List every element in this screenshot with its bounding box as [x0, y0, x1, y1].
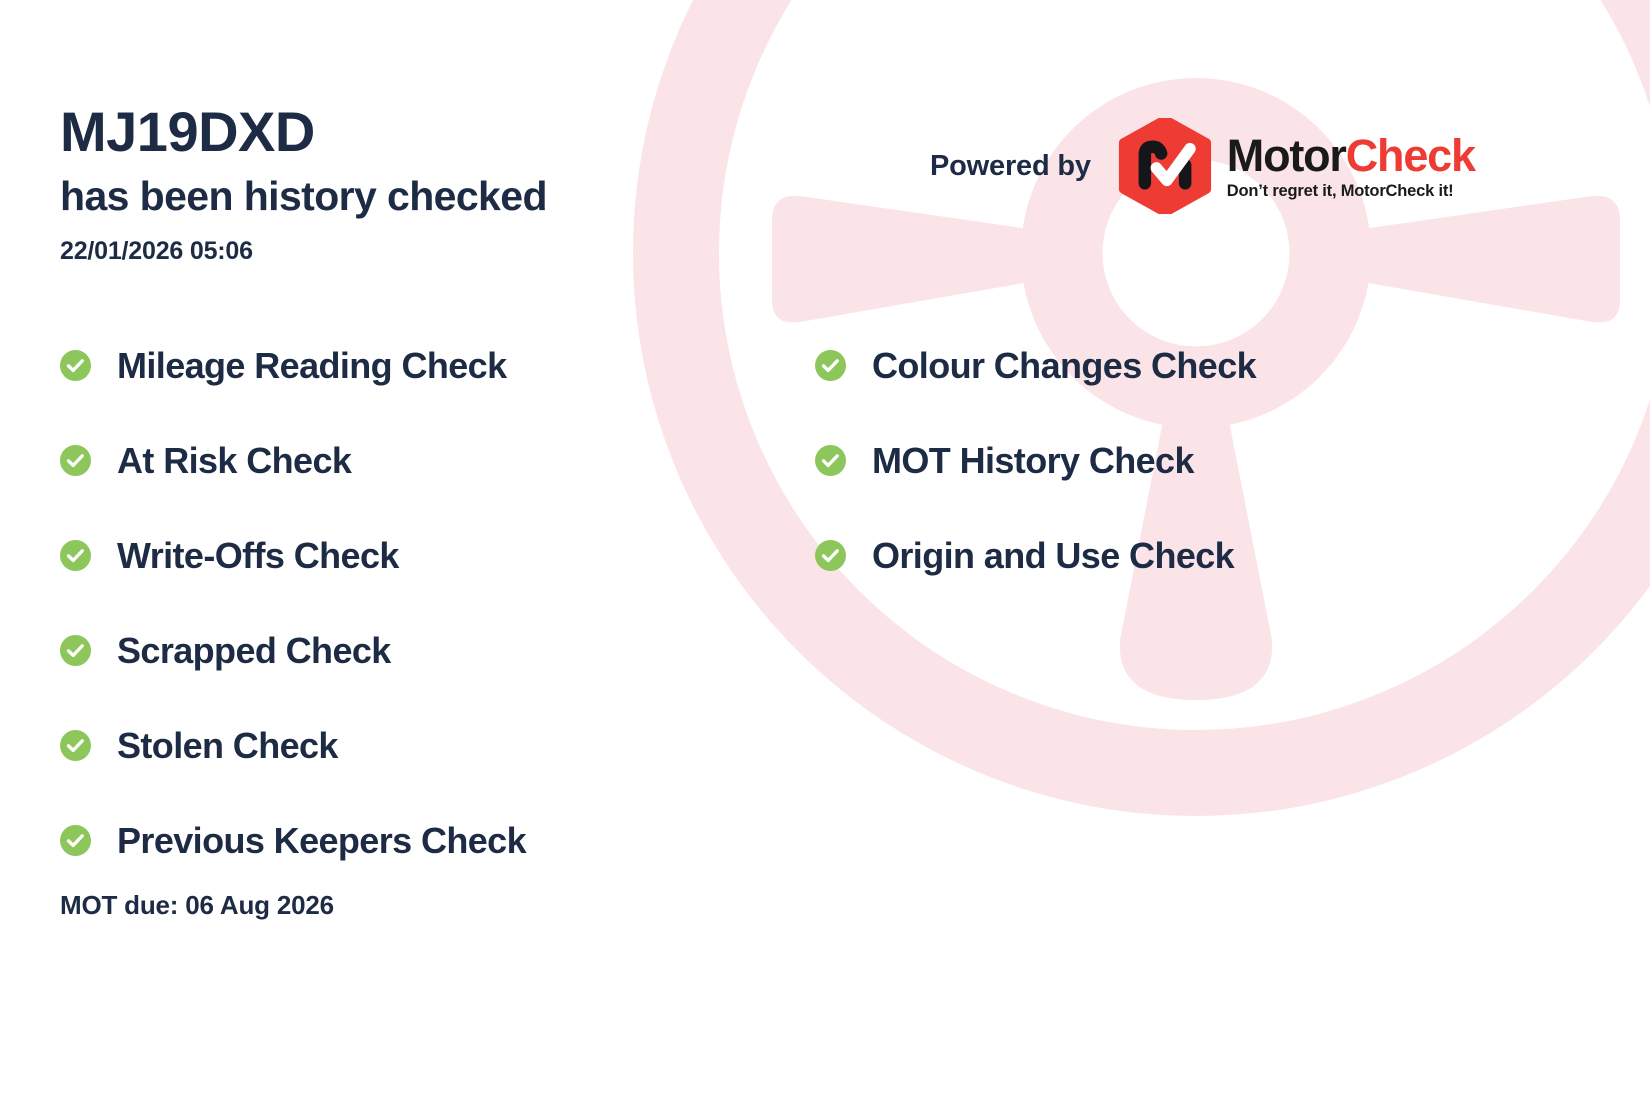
- powered-by-label: Powered by: [930, 150, 1091, 183]
- check-label: Scrapped Check: [117, 633, 391, 669]
- checks-column-right: Colour Changes Check MOT History Check O…: [815, 318, 1555, 603]
- motorcheck-hexagon-logo-icon: [1117, 118, 1213, 214]
- check-label: Mileage Reading Check: [117, 348, 507, 384]
- mot-due-label: MOT due: 06 Aug 2026: [60, 890, 334, 921]
- check-circle-icon: [815, 445, 846, 476]
- brand-name: MotorCheck: [1227, 133, 1475, 178]
- motorcheck-logo[interactable]: MotorCheck Don’t regret it, MotorCheck i…: [1117, 118, 1475, 214]
- check-circle-icon: [60, 540, 91, 571]
- check-item-colour-changes[interactable]: Colour Changes Check: [815, 318, 1555, 413]
- check-label: Write-Offs Check: [117, 538, 399, 574]
- check-label: MOT History Check: [872, 443, 1194, 479]
- brand-name-motor: Motor: [1227, 130, 1346, 181]
- check-item-scrapped[interactable]: Scrapped Check: [60, 603, 790, 698]
- checks-column-left: Mileage Reading Check At Risk Check Writ…: [60, 318, 790, 888]
- check-circle-icon: [60, 445, 91, 476]
- check-label: Origin and Use Check: [872, 538, 1234, 574]
- check-item-mileage-reading[interactable]: Mileage Reading Check: [60, 318, 790, 413]
- check-circle-icon: [815, 350, 846, 381]
- check-circle-icon: [815, 540, 846, 571]
- page-title: has been history checked: [60, 175, 547, 218]
- check-item-stolen[interactable]: Stolen Check: [60, 698, 790, 793]
- check-circle-icon: [60, 825, 91, 856]
- check-label: Previous Keepers Check: [117, 823, 526, 859]
- check-label: At Risk Check: [117, 443, 351, 479]
- check-label: Stolen Check: [117, 728, 338, 764]
- powered-by-block: Powered by MotorCheck Don’t regret it, M…: [930, 118, 1475, 214]
- check-item-previous-keepers[interactable]: Previous Keepers Check: [60, 793, 790, 888]
- brand-name-check: Check: [1346, 130, 1475, 181]
- check-item-mot-history[interactable]: MOT History Check: [815, 413, 1555, 508]
- check-label: Colour Changes Check: [872, 348, 1256, 384]
- brand-tagline: Don’t regret it, MotorCheck it!: [1227, 183, 1475, 200]
- check-item-origin-and-use[interactable]: Origin and Use Check: [815, 508, 1555, 603]
- check-circle-icon: [60, 350, 91, 381]
- check-item-at-risk[interactable]: At Risk Check: [60, 413, 790, 508]
- report-timestamp: 22/01/2026 05:06: [60, 237, 253, 266]
- check-circle-icon: [60, 730, 91, 761]
- vehicle-registration: MJ19DXD: [60, 103, 315, 160]
- check-item-write-offs[interactable]: Write-Offs Check: [60, 508, 790, 603]
- motorcheck-wordmark: MotorCheck Don’t regret it, MotorCheck i…: [1227, 133, 1475, 200]
- check-circle-icon: [60, 635, 91, 666]
- report-card: MJ19DXD has been history checked 22/01/2…: [0, 0, 1650, 1100]
